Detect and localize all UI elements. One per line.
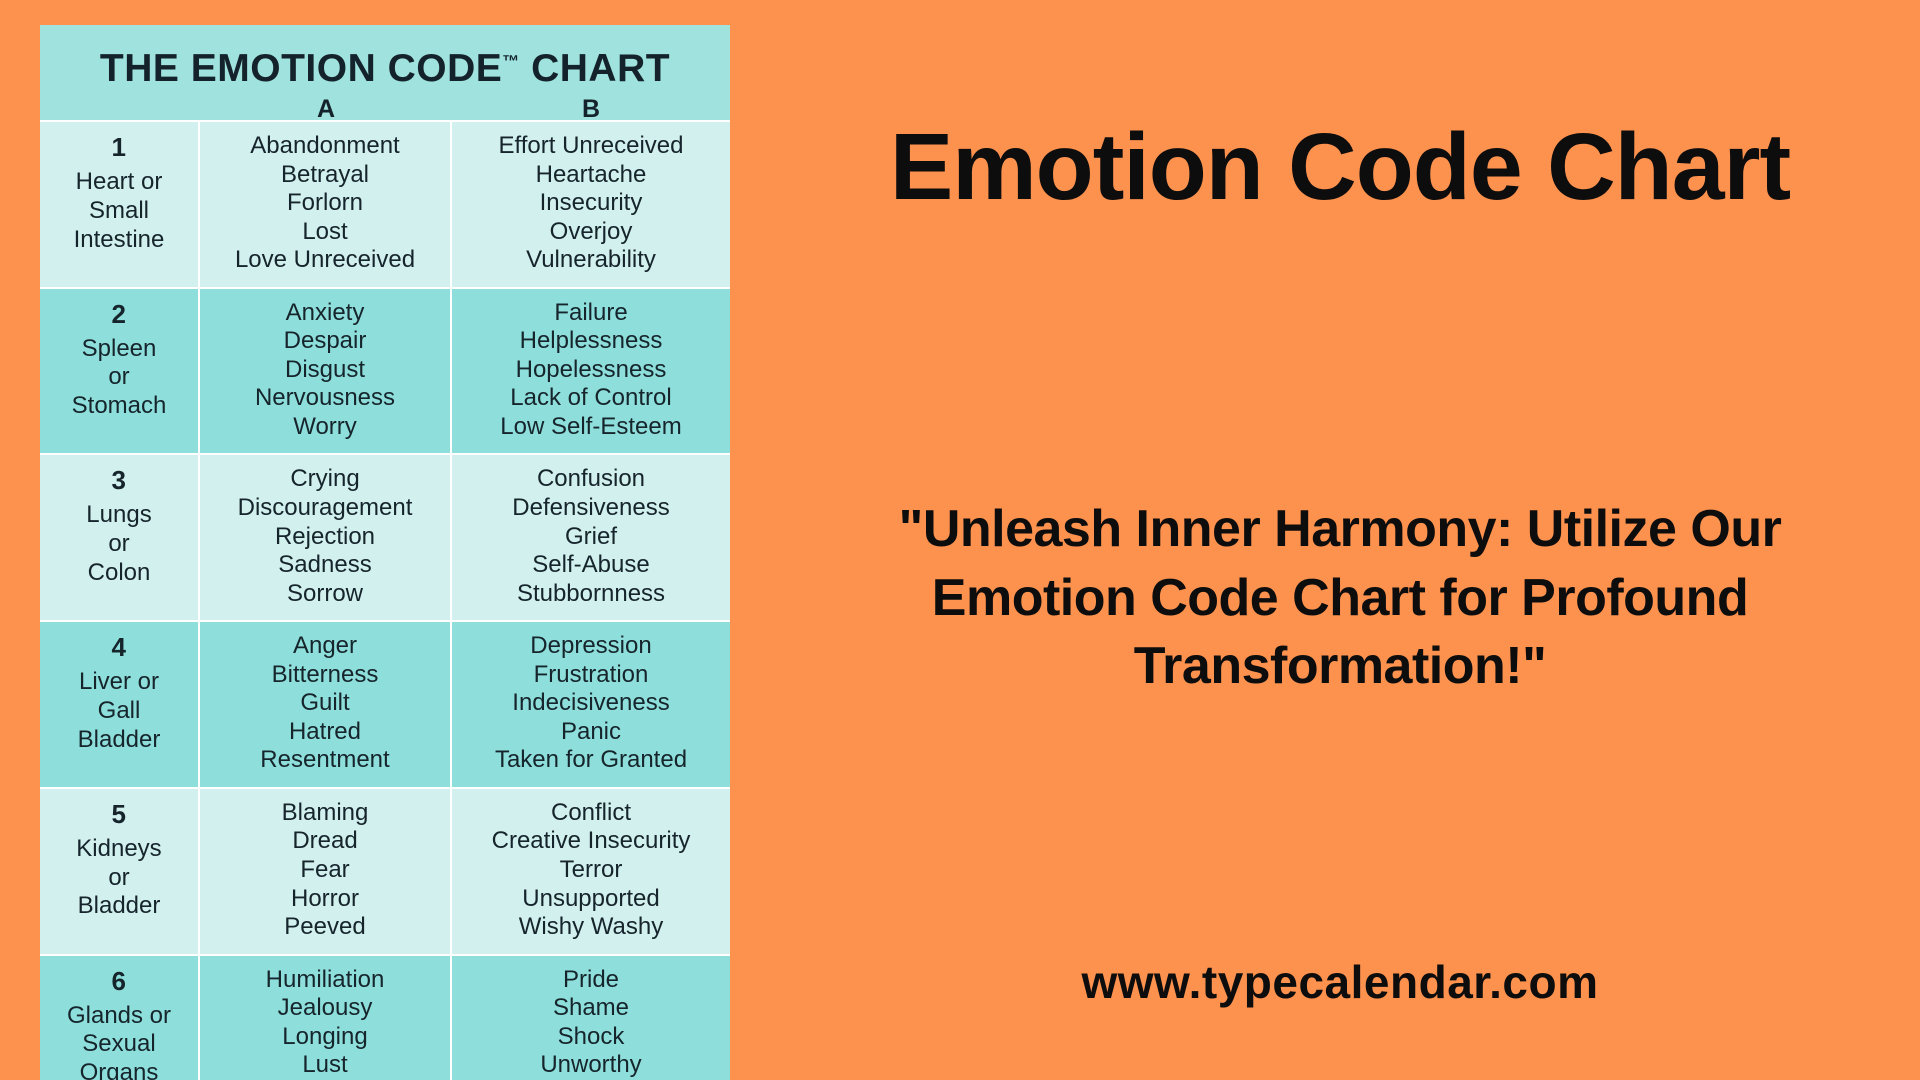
trademark-symbol: ™ [502, 52, 520, 71]
emotion-item: Peeved [206, 913, 444, 942]
row-organ-cell: 5KidneysorBladder [40, 789, 200, 954]
emotion-item: Helplessness [458, 327, 724, 356]
organ-name-line: Bladder [46, 892, 192, 921]
organ-name-line: or [46, 864, 192, 893]
row-number: 5 [46, 799, 192, 830]
row-column-a-cell: HumiliationJealousyLongingLustOverwhelm [200, 956, 452, 1080]
row-organ-cell: 1Heart orSmallIntestine [40, 122, 200, 287]
emotion-item: Love Unreceived [206, 246, 444, 275]
row-column-b-cell: PrideShameShockUnworthyWorthless [452, 956, 730, 1080]
emotion-item: Pride [458, 966, 724, 995]
emotion-item: Shame [458, 994, 724, 1023]
row-column-a-cell: AnxietyDespairDisgustNervousnessWorry [200, 289, 452, 454]
emotion-item: Low Self-Esteem [458, 413, 724, 442]
emotion-item: Humiliation [206, 966, 444, 995]
emotion-item: Vulnerability [458, 246, 724, 275]
website-url: www.typecalendar.com [760, 955, 1920, 1009]
row-organ-cell: 4Liver orGallBladder [40, 622, 200, 787]
chart-title-main: THE EMOTION CODE [100, 47, 502, 90]
emotion-item: Despair [206, 327, 444, 356]
emotion-item: Resentment [206, 746, 444, 775]
table-row: 5KidneysorBladderBlamingDreadFearHorrorP… [40, 787, 730, 954]
row-column-b-cell: ConfusionDefensivenessGriefSelf-AbuseStu… [452, 455, 730, 620]
emotion-item: Panic [458, 718, 724, 747]
chart-title: THE EMOTION CODE™ CHART [40, 47, 730, 91]
emotion-item: Lust [206, 1051, 444, 1080]
promo-tagline: "Unleash Inner Harmony: Utilize Our Emot… [795, 495, 1885, 701]
emotion-item: Blaming [206, 799, 444, 828]
emotion-item: Worry [206, 413, 444, 442]
emotion-item: Frustration [458, 661, 724, 690]
emotion-item: Shock [458, 1023, 724, 1052]
row-column-b-cell: Effort UnreceivedHeartacheInsecurityOver… [452, 122, 730, 287]
emotion-item: Defensiveness [458, 494, 724, 523]
emotion-item: Unsupported [458, 885, 724, 914]
row-column-a-cell: CryingDiscouragementRejectionSadnessSorr… [200, 455, 452, 620]
emotion-item: Confusion [458, 465, 724, 494]
emotion-item: Terror [458, 856, 724, 885]
emotion-item: Lack of Control [458, 384, 724, 413]
organ-name-line: Small [46, 197, 192, 226]
promo-panel: Emotion Code Chart "Unleash Inner Harmon… [760, 0, 1920, 1080]
emotion-item: Dread [206, 827, 444, 856]
row-number: 1 [46, 132, 192, 163]
chart-body: 1Heart orSmallIntestineAbandonmentBetray… [40, 120, 730, 1080]
emotion-item: Nervousness [206, 384, 444, 413]
emotion-item: Stubbornness [458, 580, 724, 609]
row-column-a-cell: AngerBitternessGuiltHatredResentment [200, 622, 452, 787]
table-row: 2SpleenorStomachAnxietyDespairDisgustNer… [40, 287, 730, 454]
emotion-item: Depression [458, 632, 724, 661]
organ-name-line: Colon [46, 559, 192, 588]
emotion-item: Lost [206, 218, 444, 247]
table-row: 3LungsorColonCryingDiscouragementRejecti… [40, 453, 730, 620]
page-title: Emotion Code Chart [760, 120, 1920, 215]
organ-name-line: or [46, 363, 192, 392]
column-header-organ [40, 95, 200, 124]
organ-name-line: Sexual [46, 1030, 192, 1059]
emotion-item: Jealousy [206, 994, 444, 1023]
row-number: 2 [46, 299, 192, 330]
emotion-item: Abandonment [206, 132, 444, 161]
table-row: 6Glands orSexualOrgansHumiliationJealous… [40, 954, 730, 1080]
emotion-item: Creative Insecurity [458, 827, 724, 856]
organ-name-line: Bladder [46, 726, 192, 755]
emotion-item: Anxiety [206, 299, 444, 328]
organ-name-line: Lungs [46, 501, 192, 530]
emotion-item: Heartache [458, 161, 724, 190]
emotion-item: Insecurity [458, 189, 724, 218]
row-column-b-cell: DepressionFrustrationIndecisivenessPanic… [452, 622, 730, 787]
emotion-item: Longing [206, 1023, 444, 1052]
column-header-a: A [200, 95, 452, 124]
organ-name-line: Glands or [46, 1002, 192, 1031]
chart-title-suffix: CHART [531, 47, 670, 90]
organ-name-line: Liver or [46, 668, 192, 697]
emotion-item: Wishy Washy [458, 913, 724, 942]
emotion-item: Guilt [206, 689, 444, 718]
emotion-item: Effort Unreceived [458, 132, 724, 161]
emotion-item: Grief [458, 523, 724, 552]
emotion-item: Anger [206, 632, 444, 661]
emotion-item: Sadness [206, 551, 444, 580]
row-column-b-cell: ConflictCreative InsecurityTerrorUnsuppo… [452, 789, 730, 954]
emotion-item: Failure [458, 299, 724, 328]
column-header-row: A B [40, 95, 730, 124]
emotion-item: Forlorn [206, 189, 444, 218]
organ-name-line: Spleen [46, 335, 192, 364]
organ-name-line: Heart or [46, 168, 192, 197]
row-organ-cell: 3LungsorColon [40, 455, 200, 620]
emotion-item: Taken for Granted [458, 746, 724, 775]
emotion-item: Horror [206, 885, 444, 914]
column-header-b: B [452, 95, 730, 124]
chart-header: THE EMOTION CODE™ CHART A B [40, 25, 730, 120]
row-number: 3 [46, 465, 192, 496]
organ-name-line: Organs [46, 1059, 192, 1080]
row-column-b-cell: FailureHelplessnessHopelessnessLack of C… [452, 289, 730, 454]
table-row: 1Heart orSmallIntestineAbandonmentBetray… [40, 120, 730, 287]
organ-name-line: Intestine [46, 226, 192, 255]
organ-name-line: Stomach [46, 392, 192, 421]
emotion-item: Sorrow [206, 580, 444, 609]
emotion-item: Rejection [206, 523, 444, 552]
emotion-item: Conflict [458, 799, 724, 828]
row-organ-cell: 6Glands orSexualOrgans [40, 956, 200, 1080]
row-organ-cell: 2SpleenorStomach [40, 289, 200, 454]
emotion-code-chart-card: THE EMOTION CODE™ CHART A B 1Heart orSma… [40, 25, 730, 1080]
emotion-item: Overjoy [458, 218, 724, 247]
emotion-item: Indecisiveness [458, 689, 724, 718]
row-column-a-cell: BlamingDreadFearHorrorPeeved [200, 789, 452, 954]
table-row: 4Liver orGallBladderAngerBitternessGuilt… [40, 620, 730, 787]
emotion-item: Self-Abuse [458, 551, 724, 580]
emotion-item: Unworthy [458, 1051, 724, 1080]
organ-name-line: Kidneys [46, 835, 192, 864]
row-number: 4 [46, 632, 192, 663]
emotion-item: Crying [206, 465, 444, 494]
emotion-item: Hopelessness [458, 356, 724, 385]
organ-name-line: Gall [46, 697, 192, 726]
emotion-item: Discouragement [206, 494, 444, 523]
row-column-a-cell: AbandonmentBetrayalForlornLostLove Unrec… [200, 122, 452, 287]
emotion-item: Bitterness [206, 661, 444, 690]
emotion-item: Betrayal [206, 161, 444, 190]
emotion-item: Hatred [206, 718, 444, 747]
emotion-item: Fear [206, 856, 444, 885]
organ-name-line: or [46, 530, 192, 559]
row-number: 6 [46, 966, 192, 997]
emotion-item: Disgust [206, 356, 444, 385]
